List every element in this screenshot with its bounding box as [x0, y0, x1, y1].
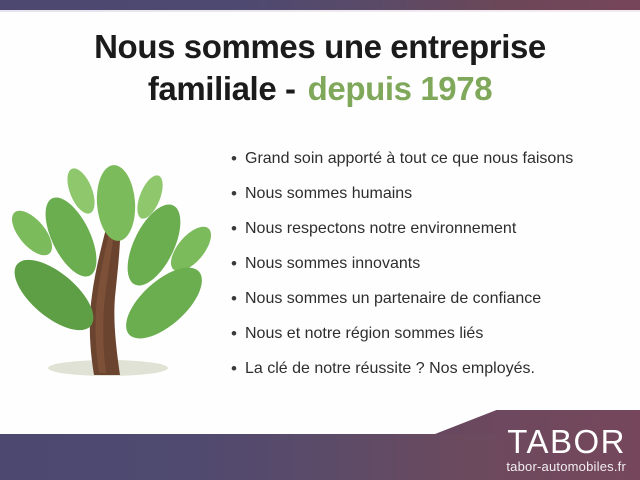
page-title: Nous sommes une entreprise familiale -de… — [0, 26, 640, 110]
list-item-label: Nous sommes humains — [245, 182, 412, 206]
list-item: • Nous sommes innovants — [231, 252, 631, 287]
title-line-1: Nous sommes une entreprise — [0, 26, 640, 68]
logo-tagline: tabor-automobiles.fr — [426, 458, 626, 475]
bullet-marker-icon: • — [231, 357, 245, 381]
logo-wordmark: TABOR — [426, 426, 626, 458]
title-line-2-main: familiale - — [148, 70, 296, 107]
list-item: • Nous sommes un partenaire de confiance — [231, 287, 631, 322]
slide-canvas: Nous sommes une entreprise familiale -de… — [0, 0, 640, 480]
value-bullet-list: • Grand soin apporté à tout ce que nous … — [231, 147, 631, 392]
top-accent-hairline — [0, 10, 640, 12]
bullet-marker-icon: • — [231, 252, 245, 276]
list-item: • Nous respectons notre environnement — [231, 217, 631, 252]
list-item: • La clé de notre réussite ? Nos employé… — [231, 357, 631, 392]
bullet-marker-icon: • — [231, 147, 245, 171]
list-item: • Grand soin apporté à tout ce que nous … — [231, 147, 631, 182]
list-item-label: Nous respectons notre environnement — [245, 217, 516, 241]
list-item: • Nous sommes humains — [231, 182, 631, 217]
bullet-marker-icon: • — [231, 322, 245, 346]
list-item-label: La clé de notre réussite ? Nos employés. — [245, 357, 535, 381]
top-accent-bar — [0, 0, 640, 10]
brand-logo: TABOR tabor-automobiles.fr — [426, 426, 626, 475]
leaf-top-center — [94, 164, 137, 242]
list-item-label: Nous sommes un partenaire de confiance — [245, 287, 541, 311]
list-item: • Nous et notre région sommes liés — [231, 322, 631, 357]
title-accent-since: depuis 1978 — [308, 70, 493, 107]
title-line-2: familiale -depuis 1978 — [0, 68, 640, 110]
list-item-label: Grand soin apporté à tout ce que nous fa… — [245, 147, 573, 171]
list-item-label: Nous sommes innovants — [245, 252, 420, 276]
bullet-marker-icon: • — [231, 182, 245, 206]
list-item-label: Nous et notre région sommes liés — [245, 322, 483, 346]
bullet-marker-icon: • — [231, 217, 245, 241]
tree-illustration — [8, 155, 213, 385]
bullet-marker-icon: • — [231, 287, 245, 311]
